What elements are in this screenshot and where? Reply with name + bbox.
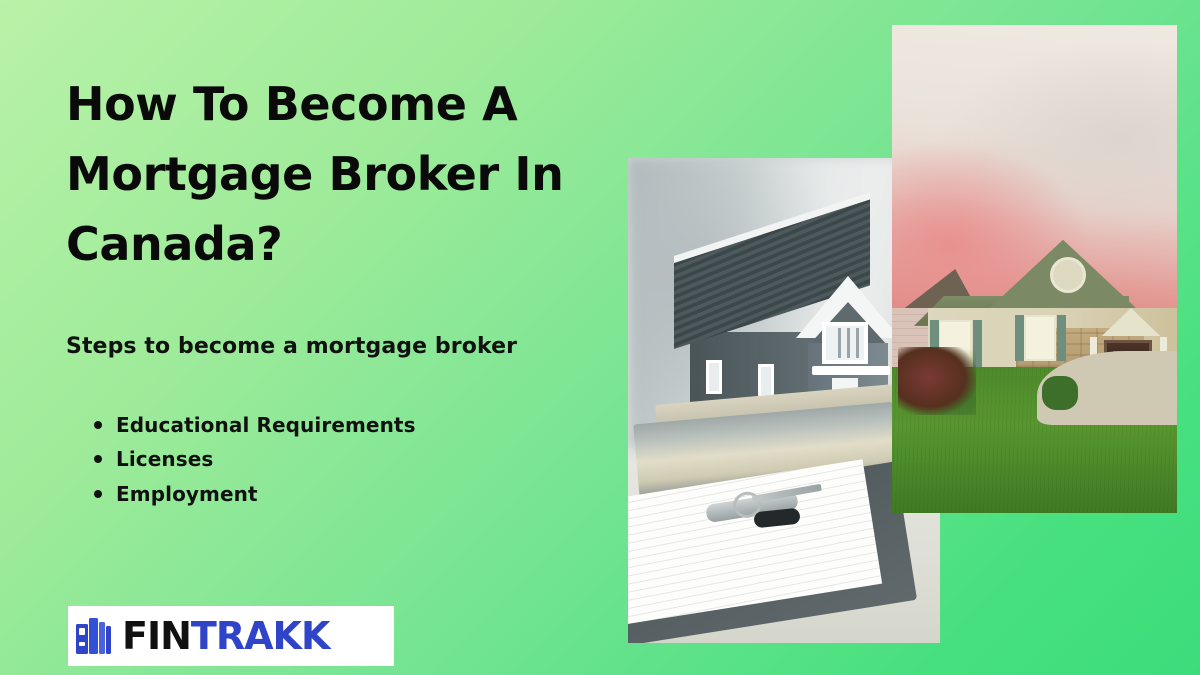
list-item: Educational Requirements bbox=[116, 408, 416, 442]
page-title: How To Become A Mortgage Broker In Canad… bbox=[66, 70, 626, 280]
shrub bbox=[898, 347, 976, 415]
list-item-label: Educational Requirements bbox=[116, 413, 416, 437]
suburban-house-photo bbox=[892, 25, 1177, 513]
shutter bbox=[1057, 315, 1066, 361]
presentation-slide: How To Become A Mortgage Broker In Canad… bbox=[0, 0, 1200, 675]
bullet-dot-icon bbox=[94, 455, 102, 463]
bullet-dot-icon bbox=[94, 421, 102, 429]
list-item: Licenses bbox=[116, 442, 416, 476]
steps-list: Educational Requirements Licenses Employ… bbox=[84, 408, 416, 511]
books-icon bbox=[74, 616, 120, 656]
logo-text-fin: FIN bbox=[122, 614, 191, 658]
subheading: Steps to become a mortgage broker bbox=[66, 334, 517, 359]
bullet-dot-icon bbox=[94, 490, 102, 498]
gable-vent bbox=[1050, 257, 1086, 293]
list-item: Employment bbox=[116, 477, 416, 511]
sunset-sky bbox=[892, 25, 1177, 308]
fintrakk-logo: FINTRAKK bbox=[68, 606, 394, 666]
logo-text-trakk: TRAKK bbox=[191, 614, 329, 658]
list-item-label: Licenses bbox=[116, 447, 213, 471]
shutter bbox=[1015, 315, 1024, 361]
list-item-label: Employment bbox=[116, 482, 258, 506]
shrub bbox=[1042, 376, 1078, 410]
logo-wordmark: FINTRAKK bbox=[122, 617, 329, 655]
window bbox=[1024, 315, 1056, 361]
